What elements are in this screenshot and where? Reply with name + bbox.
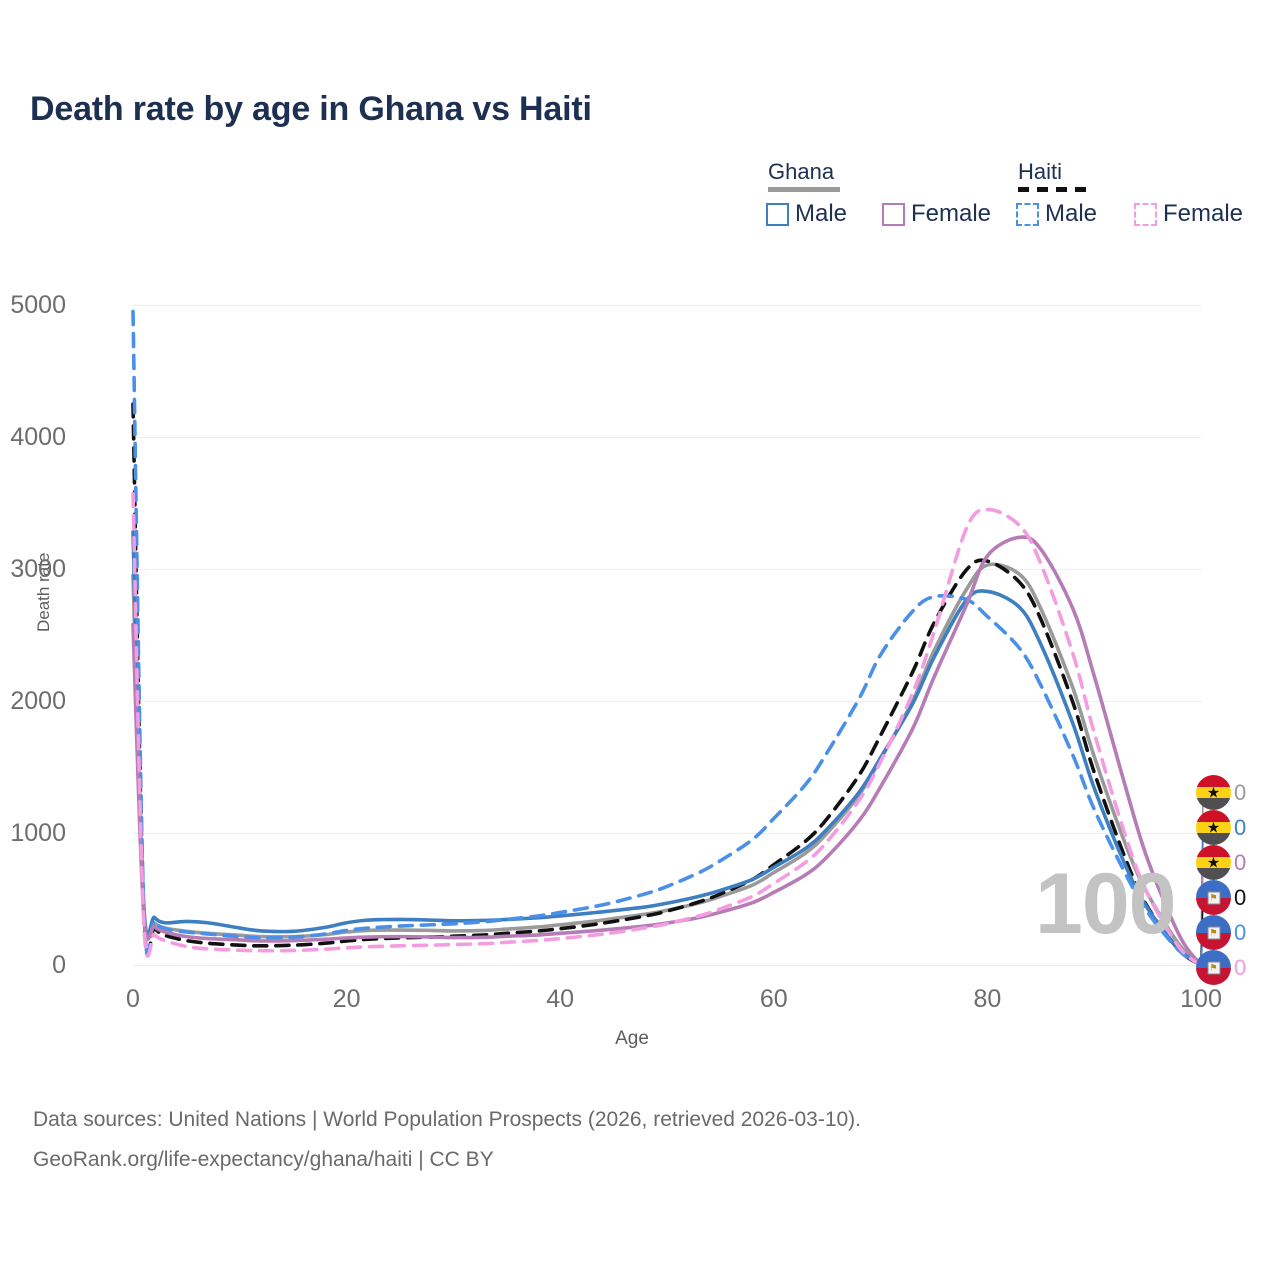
legend-haiti-line-rule xyxy=(1018,187,1090,192)
footer-attribution: GeoRank.org/life-expectancy/ghana/haiti … xyxy=(33,1148,494,1172)
chart-legend: Ghana Haiti Male Female Male xyxy=(760,160,1260,240)
x-axis-title: Age xyxy=(0,1028,1280,1050)
page-title: Death rate by age in Ghana vs Haiti xyxy=(30,90,592,129)
legend-group-haiti-label: Haiti xyxy=(1018,160,1090,184)
endpoint-marker-ghana-total[interactable]: ★0 xyxy=(1196,775,1246,810)
legend-item-ghana-female[interactable]: Female xyxy=(882,200,991,228)
ghana-flag-icon: ★ xyxy=(1196,810,1231,845)
ghana-flag-icon: ★ xyxy=(1196,775,1231,810)
y-tick-3000: 3000 xyxy=(0,555,66,584)
legend-item-haiti-female[interactable]: Female xyxy=(1134,200,1243,228)
endpoint-value-ghana-male: 0 xyxy=(1234,815,1246,841)
haiti-flag-icon: ⚑ xyxy=(1196,950,1231,985)
haiti-flag-icon: ⚑ xyxy=(1196,880,1231,915)
haiti-flag-icon: ⚑ xyxy=(1196,915,1231,950)
endpoint-value-haiti-female: 0 xyxy=(1234,955,1246,981)
endpoint-value-haiti-total: 0 xyxy=(1234,885,1246,911)
x-tick-0: 0 xyxy=(126,985,140,1014)
y-tick-1000: 1000 xyxy=(0,819,66,848)
y-tick-2000: 2000 xyxy=(0,687,66,716)
legend-label-ghana-male: Male xyxy=(795,200,847,228)
legend-series-items: Male Female Male Female xyxy=(760,200,1260,234)
endpoint-marker-haiti-male[interactable]: ⚑0 xyxy=(1196,915,1246,950)
legend-ghana-line-rule xyxy=(768,187,840,192)
gridline-y-0 xyxy=(133,965,1201,966)
legend-group-ghana-label: Ghana xyxy=(768,160,840,184)
x-tick-40: 40 xyxy=(546,985,574,1014)
endpoint-marker-ghana-female[interactable]: ★0 xyxy=(1196,845,1246,880)
endpoint-marker-haiti-female[interactable]: ⚑0 xyxy=(1196,950,1246,985)
endpoint-value-haiti-male: 0 xyxy=(1234,920,1246,946)
legend-label-ghana-female: Female xyxy=(911,200,991,228)
legend-swatch-ghana-female-icon xyxy=(882,203,905,226)
y-tick-4000: 4000 xyxy=(0,423,66,452)
legend-item-ghana-male[interactable]: Male xyxy=(766,200,847,228)
legend-label-haiti-female: Female xyxy=(1163,200,1243,228)
x-tick-20: 20 xyxy=(333,985,361,1014)
x-tick-60: 60 xyxy=(760,985,788,1014)
legend-swatch-ghana-male-icon xyxy=(766,203,789,226)
y-tick-5000: 5000 xyxy=(0,291,66,320)
legend-swatch-haiti-female-icon xyxy=(1134,203,1157,226)
endpoint-markers: ★0★0★0⚑0⚑0⚑0 xyxy=(1196,775,1280,985)
endpoint-value-ghana-total: 0 xyxy=(1234,780,1246,806)
legend-country-groups: Ghana Haiti xyxy=(760,160,1260,194)
ghana-flag-icon: ★ xyxy=(1196,845,1231,880)
footer-sources: Data sources: United Nations | World Pop… xyxy=(33,1108,861,1132)
x-tick-80: 80 xyxy=(973,985,1001,1014)
legend-swatch-haiti-male-icon xyxy=(1016,203,1039,226)
chart-container: Death rate by age in Ghana vs Haiti Ghan… xyxy=(0,0,1280,1280)
endpoint-marker-ghana-male[interactable]: ★0 xyxy=(1196,810,1246,845)
legend-group-haiti[interactable]: Haiti xyxy=(1018,160,1090,192)
endpoint-value-ghana-female: 0 xyxy=(1234,850,1246,876)
endpoint-marker-haiti-total[interactable]: ⚑0 xyxy=(1196,880,1246,915)
legend-group-ghana[interactable]: Ghana xyxy=(768,160,840,192)
legend-item-haiti-male[interactable]: Male xyxy=(1016,200,1097,228)
y-tick-0: 0 xyxy=(0,951,66,980)
legend-label-haiti-male: Male xyxy=(1045,200,1097,228)
